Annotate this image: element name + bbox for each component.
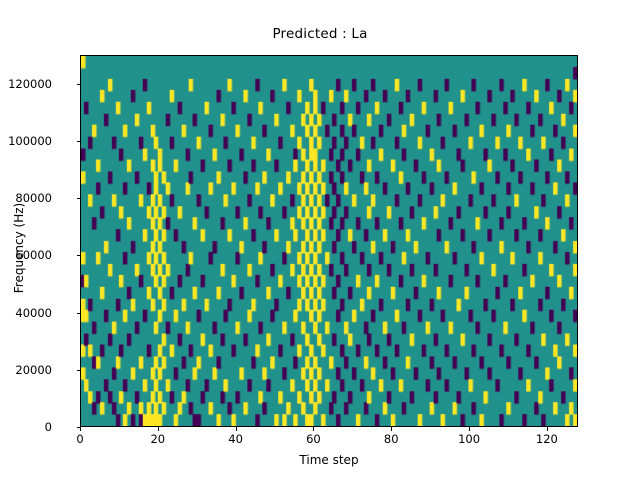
y-tick-mark bbox=[77, 255, 81, 256]
y-tick-mark bbox=[77, 84, 81, 85]
y-tick-label: 80000 bbox=[15, 191, 52, 205]
x-tick-label: 120 bbox=[536, 432, 558, 446]
y-tick-mark bbox=[77, 313, 81, 314]
x-tick-mark bbox=[391, 427, 392, 431]
matplotlib-figure: Predicted : La Frequency (Hz) Time step … bbox=[0, 0, 640, 480]
x-tick-mark bbox=[158, 427, 159, 431]
y-tick-mark bbox=[77, 370, 81, 371]
y-tick-mark bbox=[77, 198, 81, 199]
heatmap-canvas bbox=[81, 56, 577, 426]
x-tick-mark bbox=[80, 427, 81, 431]
y-tick-mark bbox=[77, 141, 81, 142]
x-tick-label: 100 bbox=[458, 432, 480, 446]
x-tick-mark bbox=[313, 427, 314, 431]
x-tick-label: 20 bbox=[150, 432, 165, 446]
x-tick-label: 40 bbox=[228, 432, 243, 446]
x-tick-mark bbox=[547, 427, 548, 431]
y-tick-label: 20000 bbox=[15, 363, 52, 377]
y-tick-label: 100000 bbox=[8, 134, 52, 148]
chart-title: Predicted : La bbox=[0, 26, 640, 42]
heatmap-axes bbox=[80, 55, 578, 427]
x-tick-label: 80 bbox=[384, 432, 399, 446]
y-tick-label: 40000 bbox=[15, 306, 52, 320]
x-tick-label: 60 bbox=[306, 432, 321, 446]
y-tick-label: 60000 bbox=[15, 248, 52, 262]
x-tick-mark bbox=[469, 427, 470, 431]
y-tick-label: 0 bbox=[45, 420, 52, 434]
y-tick-label: 120000 bbox=[8, 77, 52, 91]
x-axis-label: Time step bbox=[80, 453, 578, 467]
x-tick-mark bbox=[236, 427, 237, 431]
x-tick-label: 0 bbox=[76, 432, 83, 446]
